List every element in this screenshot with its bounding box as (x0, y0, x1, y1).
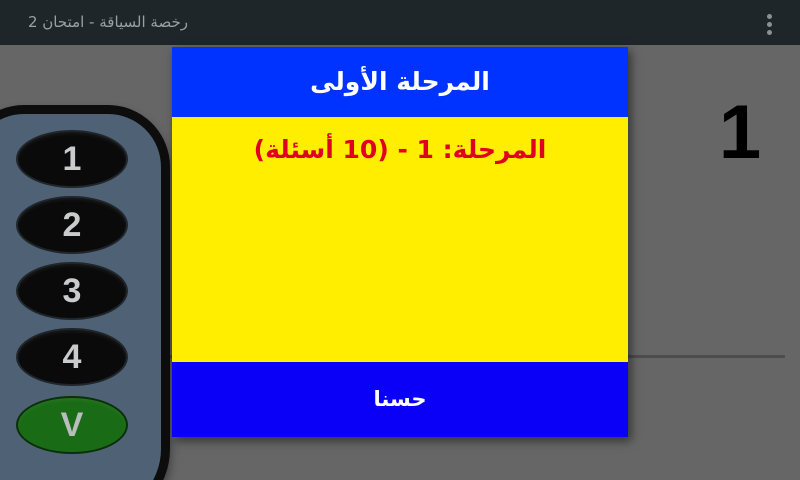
answer-key-3[interactable]: 3 (16, 262, 128, 320)
stage-dialog: المرحلة الأولى المرحلة: 1 - (10 أسئلة) ح… (172, 47, 628, 437)
more-vert-dot (767, 22, 772, 27)
more-vert-dot (767, 14, 772, 19)
more-vert-dot (767, 30, 772, 35)
dialog-title: المرحلة الأولى (172, 47, 628, 117)
app-screen: 1 1 2 3 4 V رخصة السياقة - امتحان 2 المر… (0, 0, 800, 480)
answer-key-2[interactable]: 2 (16, 196, 128, 254)
more-vert-icon[interactable] (752, 6, 786, 40)
app-bar-title: رخصة السياقة - امتحان 2 (28, 0, 188, 45)
dialog-body: المرحلة: 1 - (10 أسئلة) (172, 117, 628, 362)
answer-key-4[interactable]: 4 (16, 328, 128, 386)
validate-key[interactable]: V (16, 396, 128, 454)
dialog-message: المرحلة: 1 - (10 أسئلة) (172, 135, 628, 164)
question-number: 1 (700, 95, 780, 171)
answer-keypad: 1 2 3 4 V (0, 105, 170, 480)
answer-key-1[interactable]: 1 (16, 130, 128, 188)
app-bar: رخصة السياقة - امتحان 2 (0, 0, 800, 45)
dialog-ok-label: حسنا (374, 387, 427, 411)
dialog-ok-button[interactable]: حسنا (172, 362, 628, 437)
